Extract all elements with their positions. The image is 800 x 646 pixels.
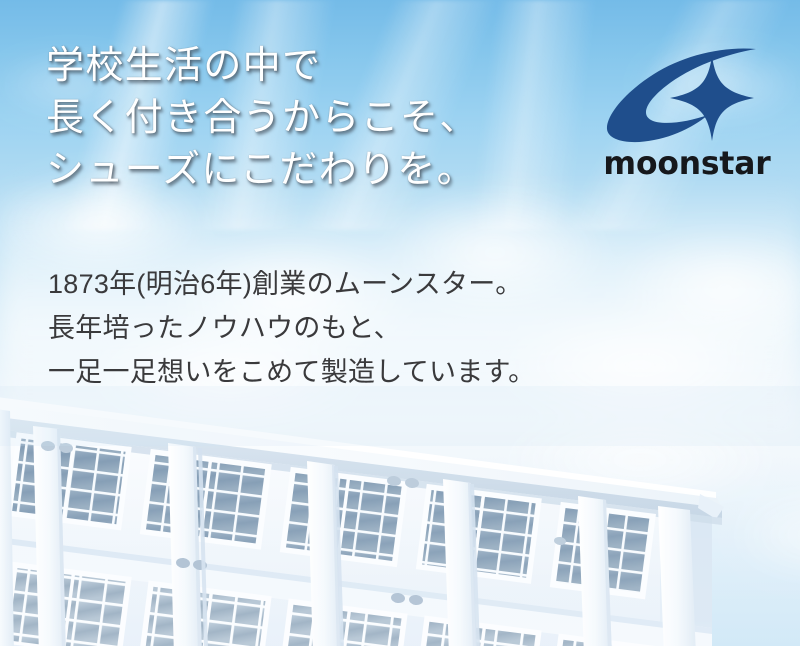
- page-title: 学校生活の中で 長く付き合うからこそ、 シューズにこだわりを。: [46, 40, 479, 196]
- lede-paragraph: 1873年(明治6年)創業のムーンスター。 長年培ったノウハウのもと、 一足一足…: [48, 262, 535, 394]
- school-building-photo: [0, 386, 800, 646]
- moonstar-logo: moonstar: [588, 46, 786, 182]
- logo-wordmark: moonstar: [590, 146, 784, 180]
- moonstar-hero-banner: 学校生活の中で 長く付き合うからこそ、 シューズにこだわりを。 1873年(明治…: [0, 0, 800, 646]
- crescent-moon-star-icon: [604, 46, 772, 146]
